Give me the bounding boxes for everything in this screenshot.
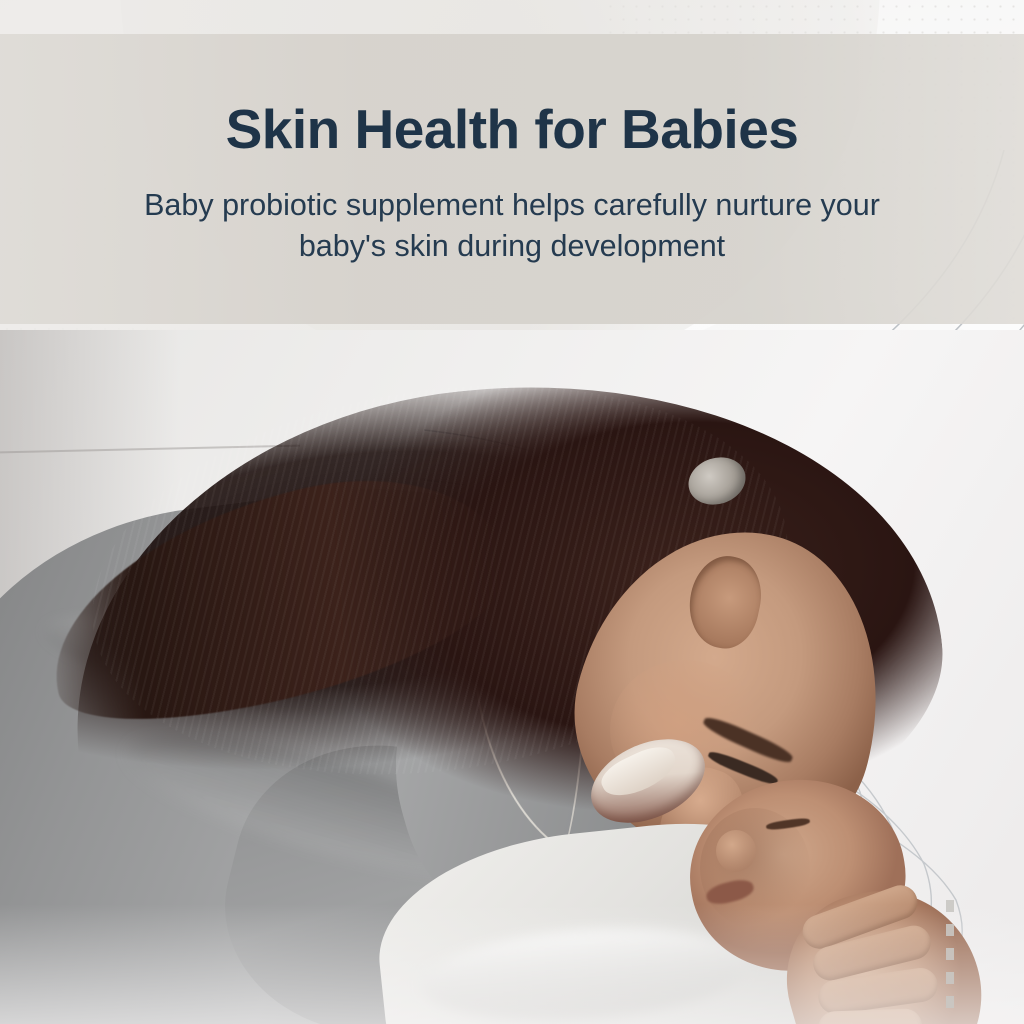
baby-nose (716, 830, 756, 872)
product-lifestyle-image: Skin Health for Babies Baby probiotic su… (0, 0, 1024, 1024)
dashed-tick-marks (946, 900, 954, 1010)
lifestyle-photo (0, 330, 1024, 1024)
headline-banner: Skin Health for Babies Baby probiotic su… (0, 34, 1024, 324)
photo-bottom-fade (0, 904, 1024, 1024)
page-subtitle: Baby probiotic supplement helps carefull… (102, 185, 922, 267)
page-title: Skin Health for Babies (0, 100, 1024, 159)
